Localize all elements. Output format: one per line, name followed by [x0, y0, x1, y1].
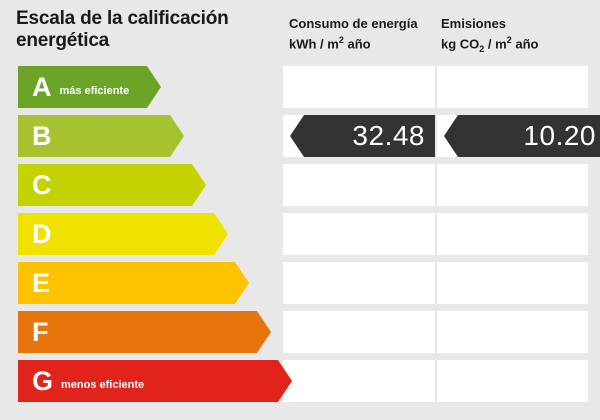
- band-d: D: [18, 213, 228, 255]
- column-header-emisiones-line2: kg CO2 / m2 año: [441, 32, 591, 58]
- page-title: Escala de la calificación energética: [16, 8, 278, 52]
- column-header-consumo: Consumo de energía kWh / m2 año: [289, 15, 434, 52]
- band-a: Amás eficiente: [18, 66, 161, 108]
- band-note: más eficiente: [60, 85, 130, 97]
- column-header-consumo-line1: Consumo de energía: [289, 16, 418, 31]
- energy-rating-label: Escala de la calificación energética Con…: [0, 0, 600, 420]
- value-arrow-consumo: 32.48: [290, 115, 435, 157]
- band-letter: G: [32, 368, 53, 395]
- rating-row-b: B32.4810.20: [18, 115, 588, 157]
- band-b: B: [18, 115, 184, 157]
- value-consumo: 32.48: [352, 122, 435, 150]
- rating-grid: Amás eficienteB32.4810.20CDEFGmenos efic…: [18, 66, 588, 410]
- band-letter: D: [32, 221, 52, 248]
- cell-consumo-g: [283, 360, 435, 402]
- rating-row-c: C: [18, 164, 588, 206]
- cell-consumo-c: [283, 164, 435, 206]
- rating-row-f: F: [18, 311, 588, 353]
- cell-emision-e: [437, 262, 588, 304]
- cell-emision-d: [437, 213, 588, 255]
- column-header-emisiones: Emisiones kg CO2 / m2 año: [441, 15, 591, 58]
- band-e: E: [18, 262, 249, 304]
- column-header-emisiones-line1: Emisiones: [441, 16, 506, 31]
- band-c: C: [18, 164, 206, 206]
- rating-row-e: E: [18, 262, 588, 304]
- column-header-consumo-line2: kWh / m2 año: [289, 32, 434, 52]
- rating-row-g: Gmenos eficiente: [18, 360, 588, 402]
- cell-consumo-e: [283, 262, 435, 304]
- rating-row-d: D: [18, 213, 588, 255]
- band-letter: C: [32, 172, 52, 199]
- band-letter: B: [32, 123, 52, 150]
- band-f: F: [18, 311, 271, 353]
- band-letter: E: [32, 270, 50, 297]
- band-letter: A: [32, 74, 52, 101]
- cell-emision-g: [437, 360, 588, 402]
- cell-emision-f: [437, 311, 588, 353]
- band-g: Gmenos eficiente: [18, 360, 292, 402]
- cell-emision-a: [437, 66, 588, 108]
- band-note: menos eficiente: [61, 379, 144, 391]
- band-letter: F: [32, 319, 49, 346]
- rating-row-a: Amás eficiente: [18, 66, 588, 108]
- cell-emision-c: [437, 164, 588, 206]
- cell-consumo-f: [283, 311, 435, 353]
- value-emisiones: 10.20: [523, 122, 600, 150]
- value-arrow-emisiones: 10.20: [444, 115, 600, 157]
- cell-consumo-d: [283, 213, 435, 255]
- cell-consumo-a: [283, 66, 435, 108]
